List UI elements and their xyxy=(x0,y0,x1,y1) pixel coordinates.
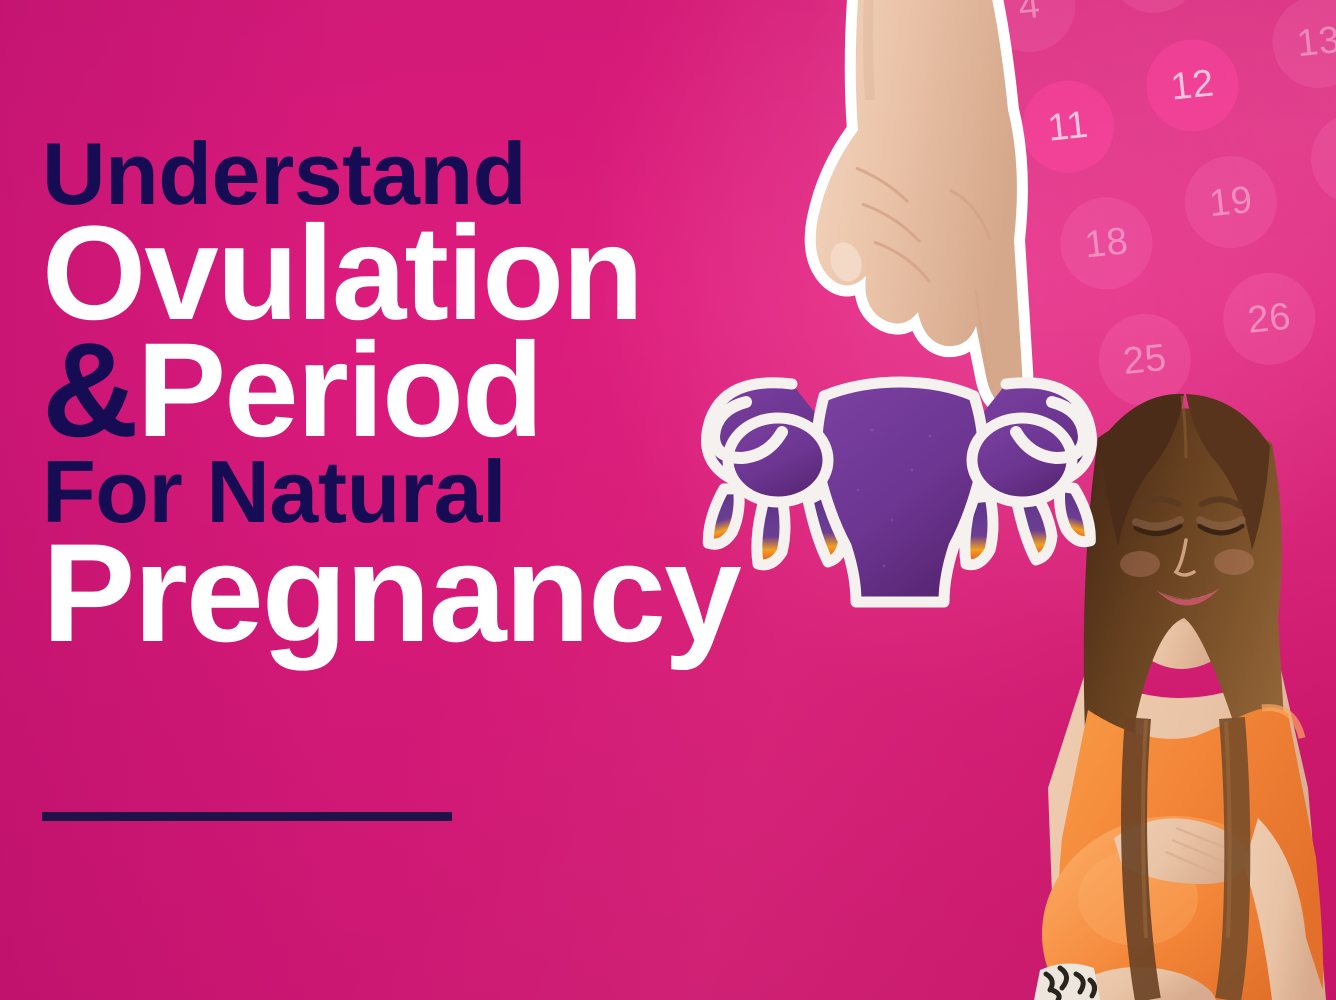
headline-line-pregnancy: Pregnancy xyxy=(42,526,922,659)
headline-block: Understand Ovulation &Period For Natural… xyxy=(42,132,922,659)
headline-underline-rule xyxy=(42,812,452,821)
headline-line-and-period: &Period xyxy=(42,327,922,454)
promotional-banner: 4 5 6 11 12 13 18 19 20 25 26 27 xyxy=(0,0,1336,1000)
